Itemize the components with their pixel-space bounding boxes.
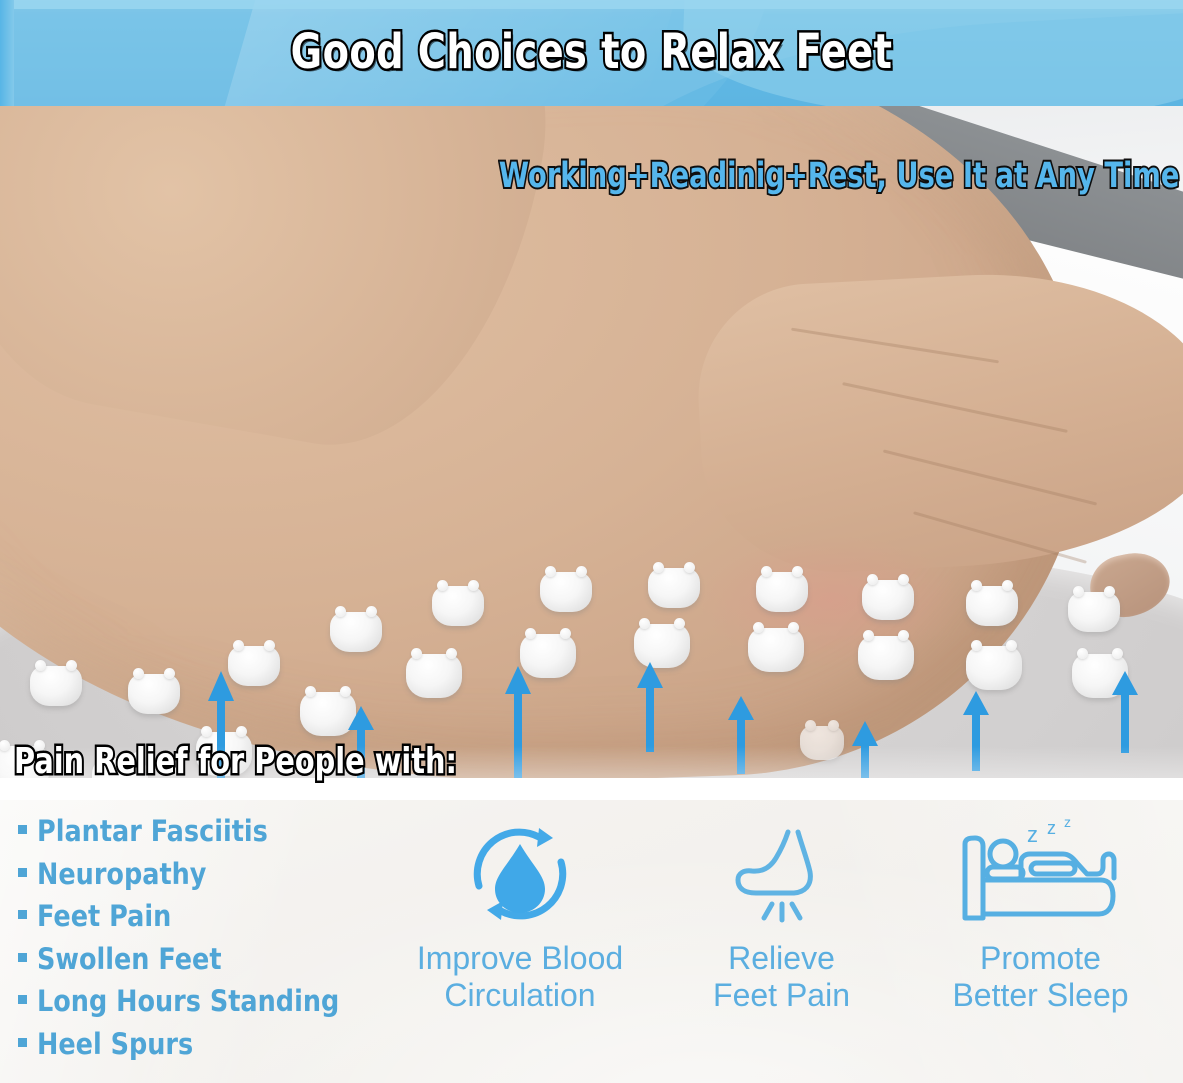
list-item: Swollen Feet [18, 938, 388, 981]
zzz-letter: z [1047, 818, 1056, 838]
bullet-square-icon [18, 995, 27, 1004]
list-item-label: Swollen Feet [37, 938, 222, 981]
photo-subtitle: Working+Readinig+Rest, Use It at Any Tim… [499, 155, 1179, 197]
header-top-strip [0, 0, 1183, 9]
list-item: Plantar Fasciitis [18, 810, 388, 853]
benefit-improve-blood-circulation: Improve Blood Circulation [375, 800, 665, 1014]
massage-nub [862, 580, 914, 620]
person-sleeping-bed-icon: z z z [951, 814, 1131, 934]
toes [693, 263, 1183, 580]
list-item-label: Neuropathy [37, 853, 206, 896]
massage-nub [756, 572, 808, 612]
product-photo: Working+Readinig+Rest, Use It at Any Tim… [0, 106, 1183, 778]
massage-nub [432, 586, 484, 626]
zzz-letter: z [1027, 822, 1038, 847]
massage-nub [648, 568, 700, 608]
massage-nub [330, 612, 382, 652]
benefits-section: Plantar Fasciitis Neuropathy Feet Pain S… [0, 800, 1183, 1083]
product-infographic: Good Choices to Relax Feet [0, 0, 1183, 1083]
massage-nub [966, 586, 1018, 626]
benefit-label: Relieve Feet Pain [713, 940, 850, 1014]
pressure-arrow-icon [1112, 671, 1138, 753]
list-item-label: Long Hours Standing [37, 980, 339, 1023]
benefit-icons-row: Improve Blood Circulation Relieve Feet P… [375, 800, 1183, 1083]
list-item: Heel Spurs [18, 1023, 388, 1066]
bullet-square-icon [18, 825, 27, 834]
list-item: Long Hours Standing [18, 980, 388, 1023]
massage-nub [748, 628, 804, 672]
benefit-promote-better-sleep: z z z Promote Better Sleep [898, 800, 1183, 1014]
header-banner: Good Choices to Relax Feet [0, 0, 1183, 106]
massage-nub [128, 674, 180, 714]
list-item-label: Plantar Fasciitis [37, 810, 268, 853]
benefit-label: Promote Better Sleep [952, 940, 1128, 1014]
bullet-square-icon [18, 910, 27, 919]
list-item: Neuropathy [18, 853, 388, 896]
benefit-relieve-feet-pain: Relieve Feet Pain [667, 800, 897, 1014]
massage-nub [966, 646, 1022, 690]
massage-nub [30, 666, 82, 706]
header-left-edge [0, 0, 14, 106]
page-title: Good Choices to Relax Feet [118, 24, 1064, 80]
condition-list: Plantar Fasciitis Neuropathy Feet Pain S… [18, 810, 388, 1065]
pain-relief-heading: Pain Relief for People with: [14, 740, 457, 784]
foot-relief-icon [722, 814, 842, 934]
zzz-letter: z [1064, 814, 1071, 830]
ball-of-foot-blush [700, 536, 960, 666]
massage-nub [540, 572, 592, 612]
list-item-label: Feet Pain [37, 895, 171, 938]
list-item: Feet Pain [18, 895, 388, 938]
massage-nub [858, 636, 914, 680]
water-drop-circulation-icon [455, 814, 585, 934]
bullet-square-icon [18, 1038, 27, 1047]
massage-nub [228, 646, 280, 686]
bullet-square-icon [18, 868, 27, 877]
massage-nub [406, 654, 462, 698]
pressure-arrow-icon [637, 662, 663, 752]
benefit-label: Improve Blood Circulation [417, 940, 623, 1014]
bullet-square-icon [18, 953, 27, 962]
massage-nub [1068, 592, 1120, 632]
list-item-label: Heel Spurs [37, 1023, 193, 1066]
